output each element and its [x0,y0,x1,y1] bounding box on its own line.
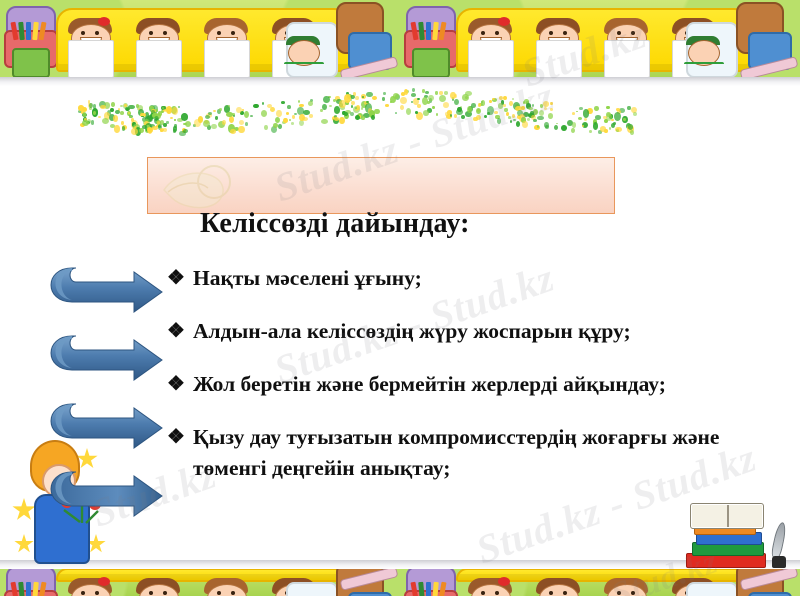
garland-petal [133,124,140,131]
garland-petal [245,122,248,126]
garland-petal [422,97,428,105]
garland-petal [413,98,419,105]
garland-petal [166,106,172,114]
garland-petal [461,115,465,119]
garland-petal [346,92,349,96]
garland-petal [617,110,622,114]
garland-petal [531,115,535,121]
garland-petal [423,110,429,116]
garland-petal [390,96,396,103]
garland-petal [513,102,520,110]
garland-petal [609,114,613,118]
garland-petal [501,100,505,104]
garland-petal [198,116,203,123]
garland-petal [369,110,375,118]
garland-petal [136,104,139,108]
diamond-bullet-icon: ❖ [167,263,193,294]
garland-petal [628,124,633,129]
garland-petal [405,90,408,93]
garland-petal [567,120,573,126]
garland-petal [328,96,330,98]
garland-petal [619,108,625,113]
garland-petal [142,125,147,129]
garland-petal [476,115,481,120]
garland-petal [138,109,144,116]
garland-petal [355,107,357,109]
garland-petal [185,121,191,127]
garland-petal [134,126,137,129]
garland-petal [344,94,351,103]
bullet-text: Жол беретін және бермейтін жерлерді айқы… [193,369,795,400]
garland-petal [526,103,531,109]
garland-petal [174,119,176,121]
garland-petal [308,101,313,106]
garland-petal [144,121,149,128]
garland-petal [207,125,211,130]
garland-petal [152,105,158,112]
garland-petal [339,117,345,125]
garland-petal [271,126,277,133]
garland-petal [630,130,635,135]
garland-petal [521,106,525,109]
garland-petal [153,114,157,117]
bullet-item-1: ❖ Нақты мәселені ұғыну; [167,263,795,294]
garland-petal [351,105,354,107]
garland-petal [291,122,294,125]
garland-petal [99,101,106,108]
garland-petal [232,113,236,116]
garland-petal [297,107,304,115]
garland-petal [322,104,327,110]
garland-petal [292,115,295,118]
garland-petal [473,117,478,120]
garland-petal [152,113,158,119]
garland-petal [556,123,558,125]
garland-petal [208,112,212,115]
garland-petal [606,113,612,120]
garland-petal [92,108,99,117]
garland-petal [173,126,178,131]
garland-petal [149,124,155,129]
garland-petal [587,108,593,115]
garland-petal [355,108,358,111]
garland-petal [417,104,421,108]
garland-petal [468,106,473,113]
garland-petal [240,111,244,115]
garland-petal [126,108,129,111]
garland-petal [604,119,608,123]
garland-petal [411,101,414,104]
garland-petal [170,117,173,119]
garland-petal [145,116,152,122]
garland-petal [383,92,386,96]
garland-petal [504,108,507,111]
child-face-icon [536,578,580,596]
garland-petal [528,107,533,110]
garland-petal [436,113,438,116]
garland-petal [494,111,499,114]
garland-petal [157,121,160,125]
garland-petal [361,101,367,108]
garland-petal [161,110,164,113]
garland-petal [264,125,268,130]
garland-petal [335,96,339,100]
garland-petal [498,103,503,108]
blank-sign [204,40,250,78]
blank-sign [68,40,114,78]
garland-petal [530,111,535,116]
spiral-loop-1 [51,268,162,312]
backpack-cluster-icon [402,4,460,76]
garland-petal [158,125,161,128]
garland-petal [233,115,235,117]
slide-canvas: Келіссөзді дайындау: [0,0,800,596]
garland-petal [537,116,544,121]
garland-petal [160,128,164,132]
garland-petal [194,119,201,127]
garland-petal [276,110,281,117]
garland-petal [222,120,226,125]
garland-petal [593,119,598,125]
garland-petal [600,126,606,131]
bullet-item-3: ❖ Жол беретін және бермейтін жерлерді ай… [167,369,795,400]
garland-petal [516,121,521,128]
garland-petal [334,115,337,118]
garland-petal [460,106,462,109]
garland-petal [428,95,434,102]
garland-petal [344,113,349,120]
garland-petal [150,113,155,119]
garland-petal [604,129,608,133]
garland-petal [477,109,480,112]
garland-petal [613,122,617,125]
garland-petal [544,107,547,110]
garland-petal [489,100,491,103]
spiral-loop-4 [51,472,162,516]
garland-petal [320,109,322,112]
garland-petal [368,108,373,114]
garland-petal [361,94,367,99]
garland-petal [151,109,157,114]
child-face-icon [204,578,248,596]
garland-petal [446,114,452,119]
garland-petal [98,116,101,118]
garland-petal [120,111,124,115]
school-bus-icon [456,8,750,72]
garland-petal [181,113,188,120]
top-banner [0,0,800,86]
garland-petal [614,112,621,121]
garland-petal [582,125,584,127]
garland-petal [122,126,125,130]
child-face-icon [468,578,512,596]
garland-petal [215,116,218,120]
garland-petal [110,124,115,128]
garland-petal [123,103,128,109]
garland-petal [151,110,157,118]
garland-petal [342,111,345,116]
garland-petal [615,127,622,133]
garland-petal [182,128,187,133]
garland-petal [219,108,221,111]
garland-petal [497,118,501,124]
garland-petal [333,118,339,124]
garland-petal [435,91,438,94]
garland-petal [270,107,276,113]
garland-petal [179,131,185,137]
blank-sign [468,40,514,78]
garland-petal [152,126,157,130]
garland-petal [91,120,95,124]
garland-petal [537,125,539,128]
garland-petal [81,110,85,113]
garland-petal [631,107,637,114]
garland-petal [594,106,599,111]
garland-petal [289,119,291,121]
garland-petal [129,115,133,118]
garland-petal [492,98,495,100]
banner-road-line-top [0,77,800,86]
garland-petal [82,120,89,126]
garland-petal [156,125,160,128]
garland-petal [88,103,91,108]
garland-petal [532,104,534,107]
garland-petal [427,108,432,112]
garland-petal [508,116,511,119]
garland-petal [620,111,623,113]
garland-petal [361,116,365,121]
garland-petal [174,124,177,127]
garland-petal [166,121,168,123]
garland-petal [145,112,149,118]
star-icon [12,498,36,522]
garland-petal [487,112,490,115]
garland-petal [412,88,415,92]
garland-petal [135,127,141,135]
garland-petal [183,129,188,133]
garland-petal [155,109,158,112]
garland-petal [161,106,165,111]
garland-petal [275,117,280,123]
garland-petal [282,121,287,125]
garland-petal [533,119,537,123]
garland-petal [523,101,526,104]
garland-petal [534,125,540,131]
garland-petal [155,118,158,122]
garland-petal [158,124,163,130]
garland-petal [239,120,244,125]
garland-petal [578,117,582,120]
garland-petal [168,108,171,112]
garland-petal [177,118,183,122]
open-book-icon [690,503,764,529]
garland-petal [88,100,90,103]
garland-petal [417,98,419,100]
garland-petal [365,103,372,112]
garland-petal [163,123,167,127]
garland-petal [492,98,498,102]
garland-petal [273,123,279,128]
garland-petal [521,117,527,122]
garland-petal [363,113,370,118]
garland-petal [122,125,127,130]
garland-petal [616,108,620,111]
garland-petal [481,101,483,103]
garland-petal [390,101,393,103]
garland-petal [160,120,165,125]
garland-petal [454,94,457,97]
garland-petal [193,124,196,126]
garland-petal [146,125,151,130]
bullet-item-2: ❖ Алдын-ала келіссөздің жүру жоспарын құ… [167,316,795,347]
garland-petal [450,92,455,99]
garland-petal [366,92,373,98]
garland-petal [513,119,515,121]
garland-petal [89,107,92,110]
garland-petal [172,107,178,115]
garland-petal [162,106,166,110]
spiral-loop-3 [51,404,162,448]
blue-spiral-arrow [42,262,178,544]
garland-petal [131,128,137,135]
garland-petal [415,111,418,114]
garland-petal [102,118,109,124]
garland-petal [425,91,429,94]
garland-petal [353,92,356,96]
garland-petal [140,112,142,115]
garland-petal [115,110,120,114]
floral-garland [78,96,638,148]
banner-tile-top [400,0,800,86]
garland-petal [478,103,481,106]
garland-petal [128,112,130,114]
garland-petal [205,115,210,119]
garland-petal [345,110,351,114]
garland-petal [467,106,472,113]
garland-petal [228,105,231,107]
garland-petal [104,112,110,120]
garland-petal [228,124,234,133]
garland-petal [104,102,111,109]
garland-petal [267,104,272,108]
garland-petal [351,101,355,105]
garland-petal [261,110,268,117]
garland-petal [345,101,350,105]
garland-petal [456,109,463,115]
garland-petal [149,105,155,112]
garland-petal [404,89,409,95]
garland-petal [149,106,153,110]
garland-petal [439,91,443,95]
garland-petal [302,117,308,121]
garland-petal [299,114,305,121]
garland-petal [443,102,449,108]
school-bus-icon [56,8,350,72]
garland-petal [616,129,619,132]
garland-petal [111,102,116,107]
garland-petal [137,105,143,110]
garland-petal [298,100,300,103]
garland-petal [372,96,376,100]
garland-petal [484,115,487,118]
garland-petal [213,110,216,112]
garland-petal [444,91,448,95]
garland-petal [162,107,164,109]
garland-petal [120,105,123,107]
garland-petal [163,109,167,112]
garland-petal [595,115,602,120]
garland-petal [244,111,249,118]
garland-petal [550,108,554,111]
garland-petal [509,101,513,106]
diamond-bullet-icon: ❖ [167,316,193,347]
garland-petal [107,110,111,116]
garland-petal [611,119,613,121]
garland-petal [217,109,221,114]
garland-petal [545,125,549,129]
bullet-text: Қызу дау туғызатын компромисстердің жоға… [193,422,795,484]
garland-petal [406,108,412,115]
garland-petal [481,100,485,105]
child-face-icon [136,578,180,596]
garland-petal [211,124,216,129]
diamond-bullet-icon: ❖ [167,369,193,400]
garland-petal [411,93,416,97]
garland-petal [356,105,360,110]
backpack-pencil-cluster-icon [338,2,400,78]
garland-petal [519,114,525,122]
garland-petal [148,128,153,134]
garland-petal [439,95,446,102]
garland-petal [355,96,358,100]
garland-petal [548,113,553,118]
garland-petal [167,109,171,112]
garland-petal [526,101,530,105]
garland-petal [310,99,313,103]
garland-petal [100,105,106,109]
title-box [147,157,615,214]
books-and-quill-clipart [684,506,788,568]
child-face-icon [68,578,112,596]
garland-petal [512,114,515,118]
garland-petal [447,110,453,115]
garland-petal [572,112,575,115]
garland-petal [86,121,90,124]
garland-petal [154,116,159,123]
garland-petal [626,123,631,129]
garland-petal [617,128,619,131]
garland-petal [544,122,548,128]
garland-petal [395,112,397,114]
garland-petal [139,128,144,133]
garland-petal [339,100,346,108]
garland-petal [533,109,538,115]
garland-petal [503,104,506,107]
garland-petal [147,127,153,133]
garland-petal [503,96,507,100]
garland-petal [160,129,163,132]
garland-petal [622,116,628,123]
garland-petal [143,119,150,126]
garland-petal [124,104,127,107]
garland-petal [333,99,336,102]
garland-petal [287,105,291,109]
garland-petal [163,128,167,132]
diamond-bullet-icon: ❖ [167,422,193,453]
garland-petal [355,115,360,120]
garland-petal [499,96,503,100]
garland-petal [361,107,364,110]
